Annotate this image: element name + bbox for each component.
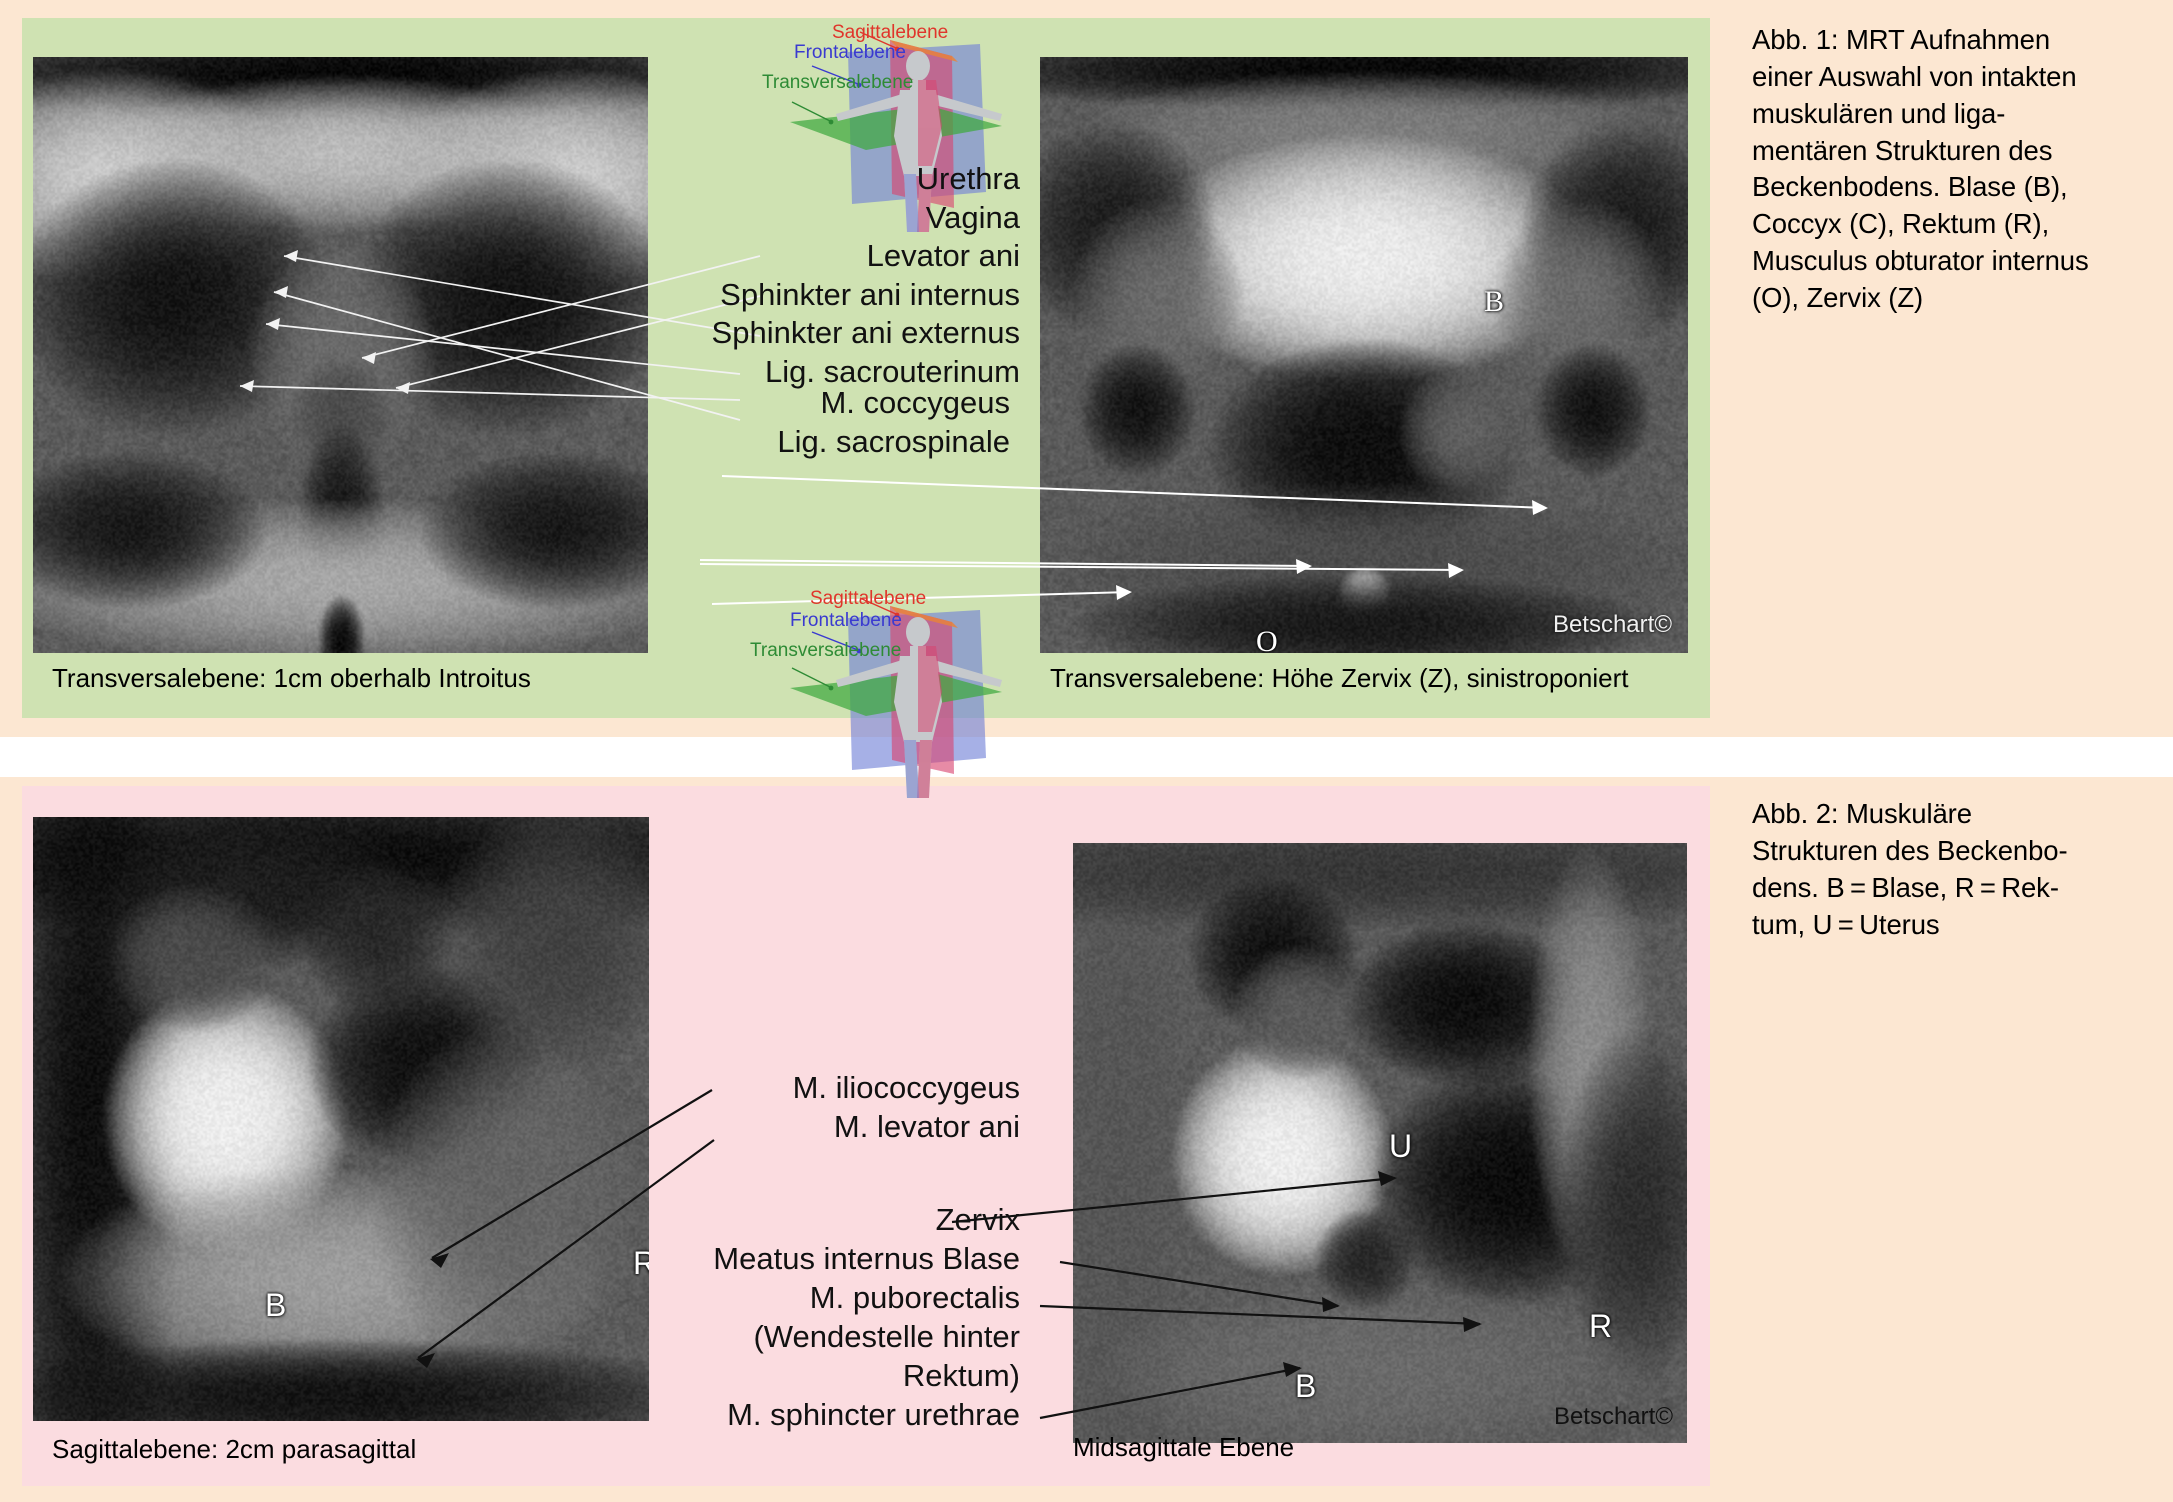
annotation-levator-ani: Levator ani (560, 237, 1020, 276)
annotation-m-coccygeus: M. coccygeus (560, 384, 1010, 423)
annotation-vagina: Vagina (560, 199, 1020, 238)
figure2-caption: Abb. 2: Muskuläre Strukturen des Beckenb… (1752, 796, 2152, 943)
annotation-m-sphincter-urethrae: M. sphincter urethrae (530, 1395, 1020, 1434)
annotation-zervix: Zervix (530, 1200, 1020, 1239)
caption-line: Musculus obturator internus (1752, 243, 2152, 280)
figure2-annotations-lower: Zervix Meatus internus Blase M. puborect… (530, 1200, 1020, 1434)
annotation-sphinkter-ani-externus: Sphinkter ani externus (560, 314, 1020, 353)
caption-line: muskulären und liga- (1752, 96, 2152, 133)
plane-label-sagittal-fig1: Sagittalebene (832, 22, 948, 44)
annotation-rektum: Rektum) (530, 1356, 1020, 1395)
figure1-left-mri (33, 57, 648, 653)
watermark-betschart-fig2: Betschart© (1554, 1403, 1673, 1431)
annotation-m-puborectalis: M. puborectalis (530, 1278, 1020, 1317)
figure2-right-mri: U R B Betschart© (1073, 843, 1687, 1443)
plane-label-frontal-fig1: Frontalebene (794, 42, 906, 64)
caption-line: tum, U = Uterus (1752, 907, 2152, 944)
plane-label-frontal-fig2: Frontalebene (790, 610, 902, 632)
annotation-m-iliococcygeus: M. iliococcygeus (550, 1068, 1020, 1107)
figure1-caption: Abb. 1: MRT Aufnahmen einer Auswahl von … (1752, 22, 2152, 317)
figure1-right-footer: Transversalebene: Höhe Zervix (Z), sinis… (1050, 663, 1628, 694)
plane-label-transverse-fig1: Transversalebene (762, 72, 913, 94)
annotation-sphinkter-ani-internus: Sphinkter ani internus (560, 276, 1020, 315)
watermark-betschart-fig1: Betschart© (1553, 611, 1672, 639)
caption-line: Abb. 1: MRT Aufnahmen (1752, 22, 2152, 59)
caption-line: einer Auswahl von intakten (1752, 59, 2152, 96)
figure2-right-footer: Midsagittale Ebene (1073, 1432, 1294, 1463)
caption-line: dens. B = Blase, R = Rek- (1752, 870, 2152, 907)
figure2-left-footer: Sagittalebene: 2cm parasagittal (52, 1434, 416, 1465)
annotation-wendestelle-hinter: (Wendestelle hinter (530, 1317, 1020, 1356)
annotation-lig-sacrospinale: Lig. sacrospinale (560, 423, 1010, 462)
caption-line: mentären Strukturen des (1752, 133, 2152, 170)
annotation-meatus-internus-blase: Meatus internus Blase (530, 1239, 1020, 1278)
plane-label-sagittal-fig2: Sagittalebene (810, 588, 926, 610)
figure1-left-footer: Transversalebene: 1cm oberhalb Introitus (52, 663, 531, 694)
figure2-annotations-upper: M. iliococcygeus M. levator ani (550, 1068, 1020, 1146)
caption-line: Beckenbodens. Blase (B), (1752, 169, 2152, 206)
caption-line: Strukturen des Beckenbo- (1752, 833, 2152, 870)
figure1-annotations-lower: M. coccygeus Lig. sacrospinale (560, 384, 1010, 461)
figure1-right-mri: B O Z O R C Betschart© (1040, 57, 1688, 653)
figure1-annotations-upper: Urethra Vagina Levator ani Sphinkter ani… (560, 160, 1020, 392)
caption-line: Abb. 2: Muskuläre (1752, 796, 2152, 833)
annotation-urethra: Urethra (560, 160, 1020, 199)
caption-line: Coccyx (C), Rektum (R), (1752, 206, 2152, 243)
figure-separator-band (0, 737, 2173, 777)
annotation-m-levator-ani: M. levator ani (550, 1107, 1020, 1146)
caption-line: (O), Zervix (Z) (1752, 280, 2152, 317)
plane-label-transverse-fig2: Transversalebene (750, 640, 901, 662)
